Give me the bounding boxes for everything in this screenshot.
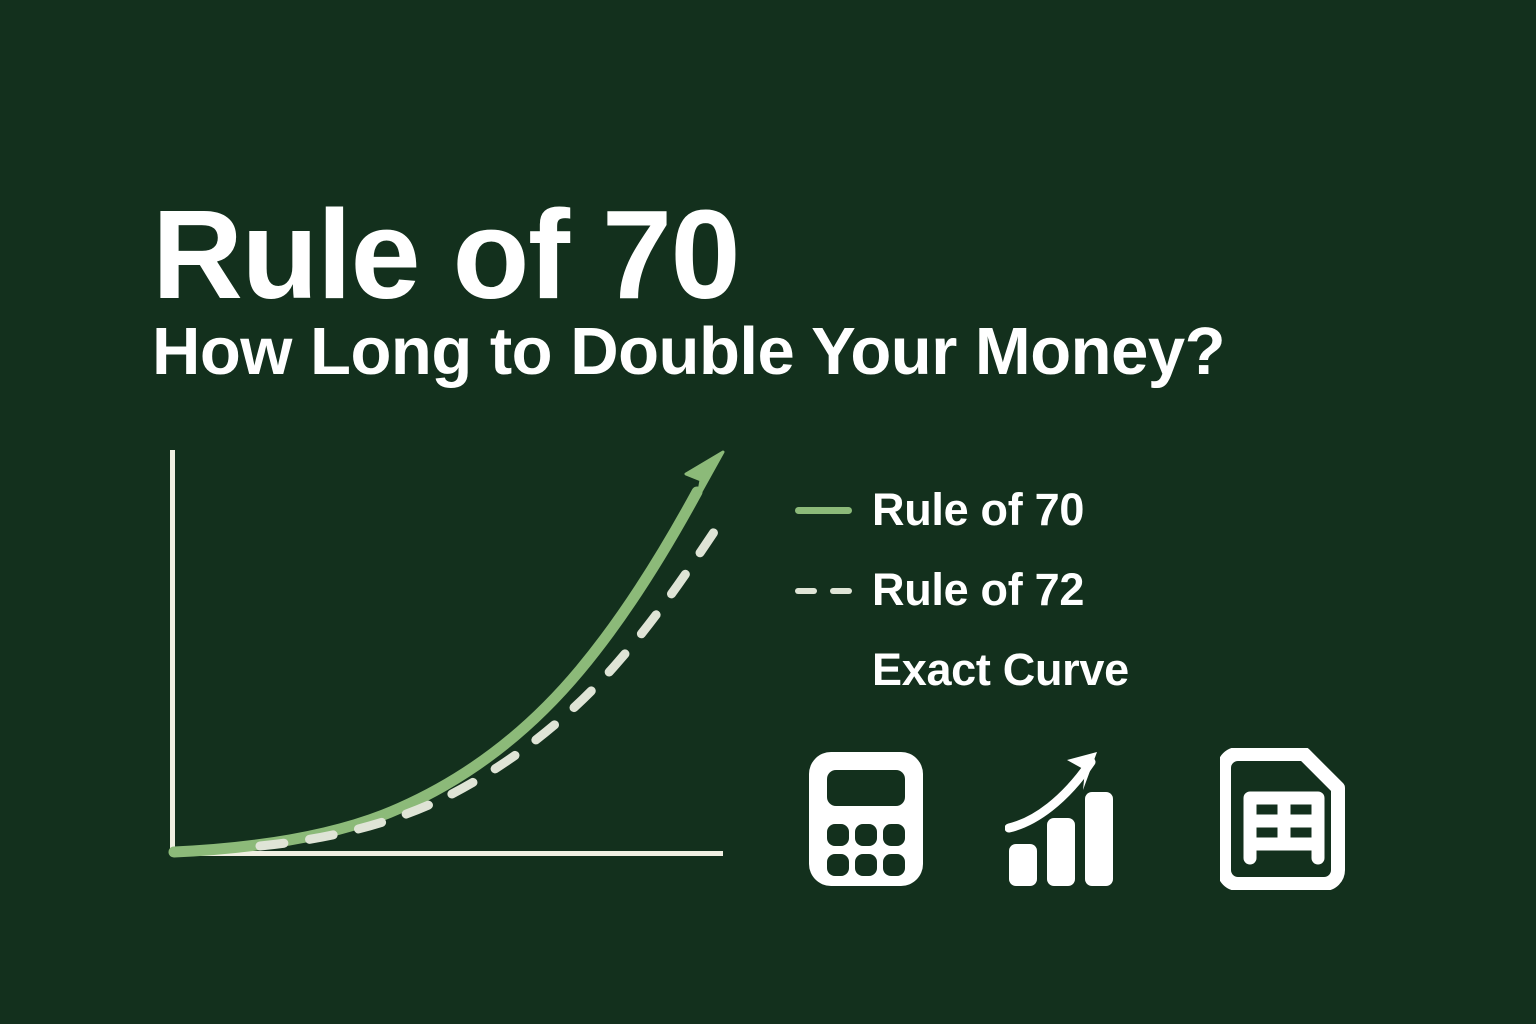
y-axis-line bbox=[170, 450, 175, 856]
growth-chart-icon bbox=[1005, 748, 1123, 895]
legend-item-exact-curve[interactable]: Exact Curve bbox=[790, 630, 1210, 710]
legend-label-rule-of-72: Rule of 72 bbox=[872, 564, 1084, 616]
spreadsheet-icon bbox=[1220, 748, 1346, 895]
legend-item-rule-of-70[interactable]: Rule of 70 bbox=[790, 470, 1210, 550]
x-axis-line bbox=[170, 851, 723, 856]
legend-item-rule-of-72[interactable]: Rule of 72 bbox=[790, 550, 1210, 630]
icon-row bbox=[795, 748, 1355, 898]
legend-swatch-solid-line bbox=[790, 498, 872, 522]
growth-chart bbox=[150, 430, 770, 880]
chart-svg bbox=[150, 430, 770, 880]
poster-canvas: Rule of 70 How Long to Double Your Money… bbox=[0, 0, 1536, 1024]
series-rule-of-70-arrowhead bbox=[686, 452, 723, 497]
legend-label-exact-curve: Exact Curve bbox=[872, 644, 1129, 696]
calculator-icon bbox=[805, 748, 927, 895]
legend-swatch-empty bbox=[790, 658, 872, 682]
page-subtitle: How Long to Double Your Money? bbox=[152, 318, 1225, 385]
chart-legend: Rule of 70 Rule of 72 Exact Curve bbox=[790, 470, 1210, 710]
page-title: Rule of 70 bbox=[152, 192, 739, 318]
series-rule-of-70-curve bbox=[174, 492, 697, 852]
legend-swatch-dashed-line bbox=[790, 578, 872, 602]
legend-label-rule-of-70: Rule of 70 bbox=[872, 484, 1084, 536]
